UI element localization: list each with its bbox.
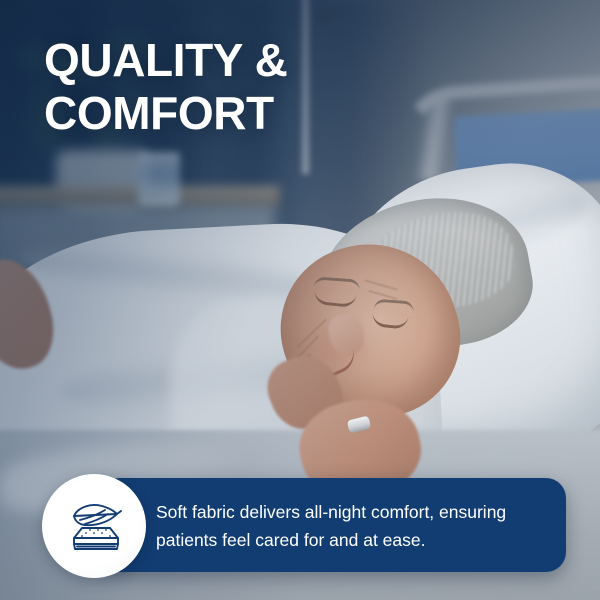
- headline-line-1: QUALITY &: [44, 34, 464, 87]
- iv-pole-knob: [318, 8, 336, 24]
- headline-line-2: COMFORT: [44, 87, 464, 140]
- feather-on-mattress-icon: [64, 498, 124, 554]
- feature-icon-badge: [42, 474, 146, 578]
- feature-banner: Soft fabric delivers all-night comfort, …: [100, 478, 566, 572]
- banner-line-2: patients feel cared for and at ease.: [156, 526, 556, 554]
- promo-graphic: QUALITY & COMFORT Soft fabric delivers a…: [0, 0, 600, 600]
- water-glass: [138, 152, 180, 206]
- page-title: QUALITY & COMFORT: [44, 34, 464, 140]
- banner-line-1: Soft fabric delivers all-night comfort, …: [156, 498, 556, 526]
- feature-banner-text: Soft fabric delivers all-night comfort, …: [156, 498, 556, 554]
